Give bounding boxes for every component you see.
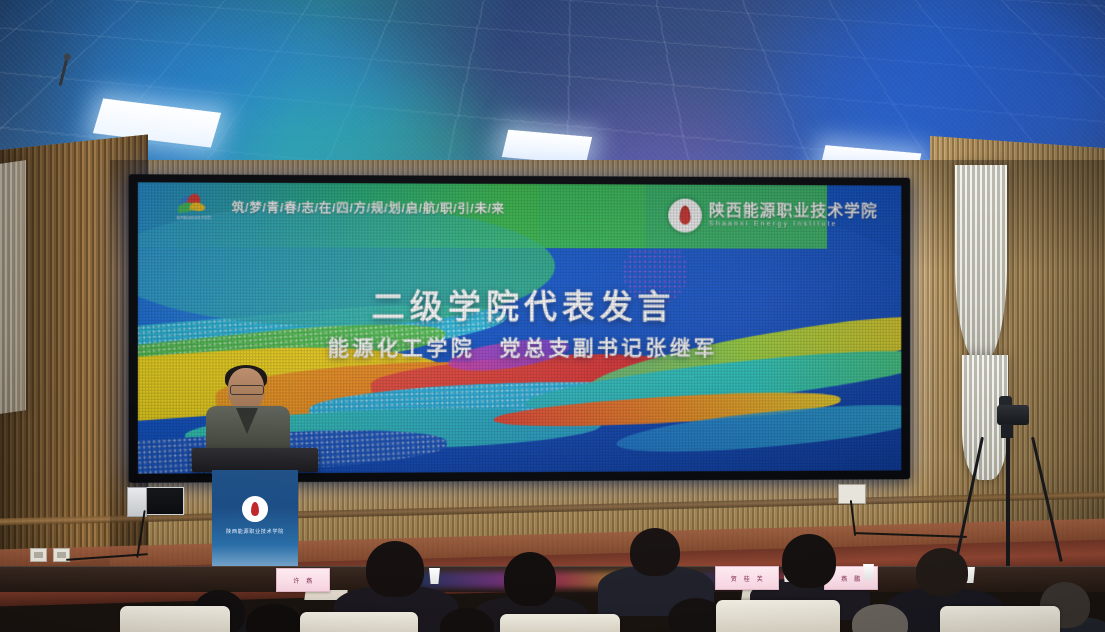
audience-head [366,541,424,597]
institution-emblem-icon [668,199,702,233]
audience-chair [120,606,230,632]
audience-head [630,528,680,576]
speaker-glasses-icon [230,385,264,395]
audience-chair [940,606,1060,632]
program-logo-caption: 陕西能源职业技术学院就业创业指导中心 [177,215,212,220]
slide-subtitle: 能源化工学院 党总支副书记张继军 [138,332,901,362]
tripod-leg-center [1006,437,1010,569]
presentation-hall-photo: 陕西能源职业技术学院就业创业指导中心 筑/梦/青/春/志/在/四/方/规/划/启… [0,0,1105,632]
wall-power-outlet-1[interactable] [30,548,47,562]
audience-head [504,552,556,606]
audience-chair [716,600,840,632]
name-card: 贺 桂 芙 [715,566,779,590]
podium-institution-text: 陕西能源职业技术学院 [212,528,298,535]
tripod-head [1001,424,1013,438]
audience-chair [500,614,620,632]
camera-tripod [975,405,1065,570]
audience-head [782,534,836,588]
slide-header-tagline: 筑/梦/青/春/志/在/四/方/规/划/启/航/职/引/未/来 [232,197,505,217]
name-card: 许 燕 [276,568,330,592]
podium: 陕西能源职业技术学院 [200,448,310,568]
speaker-person [206,368,290,460]
curtain-right-main [955,165,1007,365]
institution-name-en: Shaanxi Energy Institute [709,220,878,228]
institution-name-cn: 陕西能源职业技术学院 [709,204,878,221]
audience-head [916,548,968,596]
video-camera [997,405,1029,425]
podium-emblem-icon [242,496,268,522]
audience-chair [300,612,418,632]
curtain-left-edge [0,160,26,414]
tripod-leg-right [1031,437,1063,562]
institution-logo: 陕西能源职业技术学院 Shaanxi Energy Institute [668,199,878,233]
slide-title: 二级学院代表发言 [138,279,901,328]
wall-av-junction-box [144,487,184,515]
program-logo-icon: 陕西能源职业技术学院就业创业指导中心 [177,194,212,220]
podium-banner: 陕西能源职业技术学院 [212,470,298,574]
podium-desktop [192,448,318,472]
